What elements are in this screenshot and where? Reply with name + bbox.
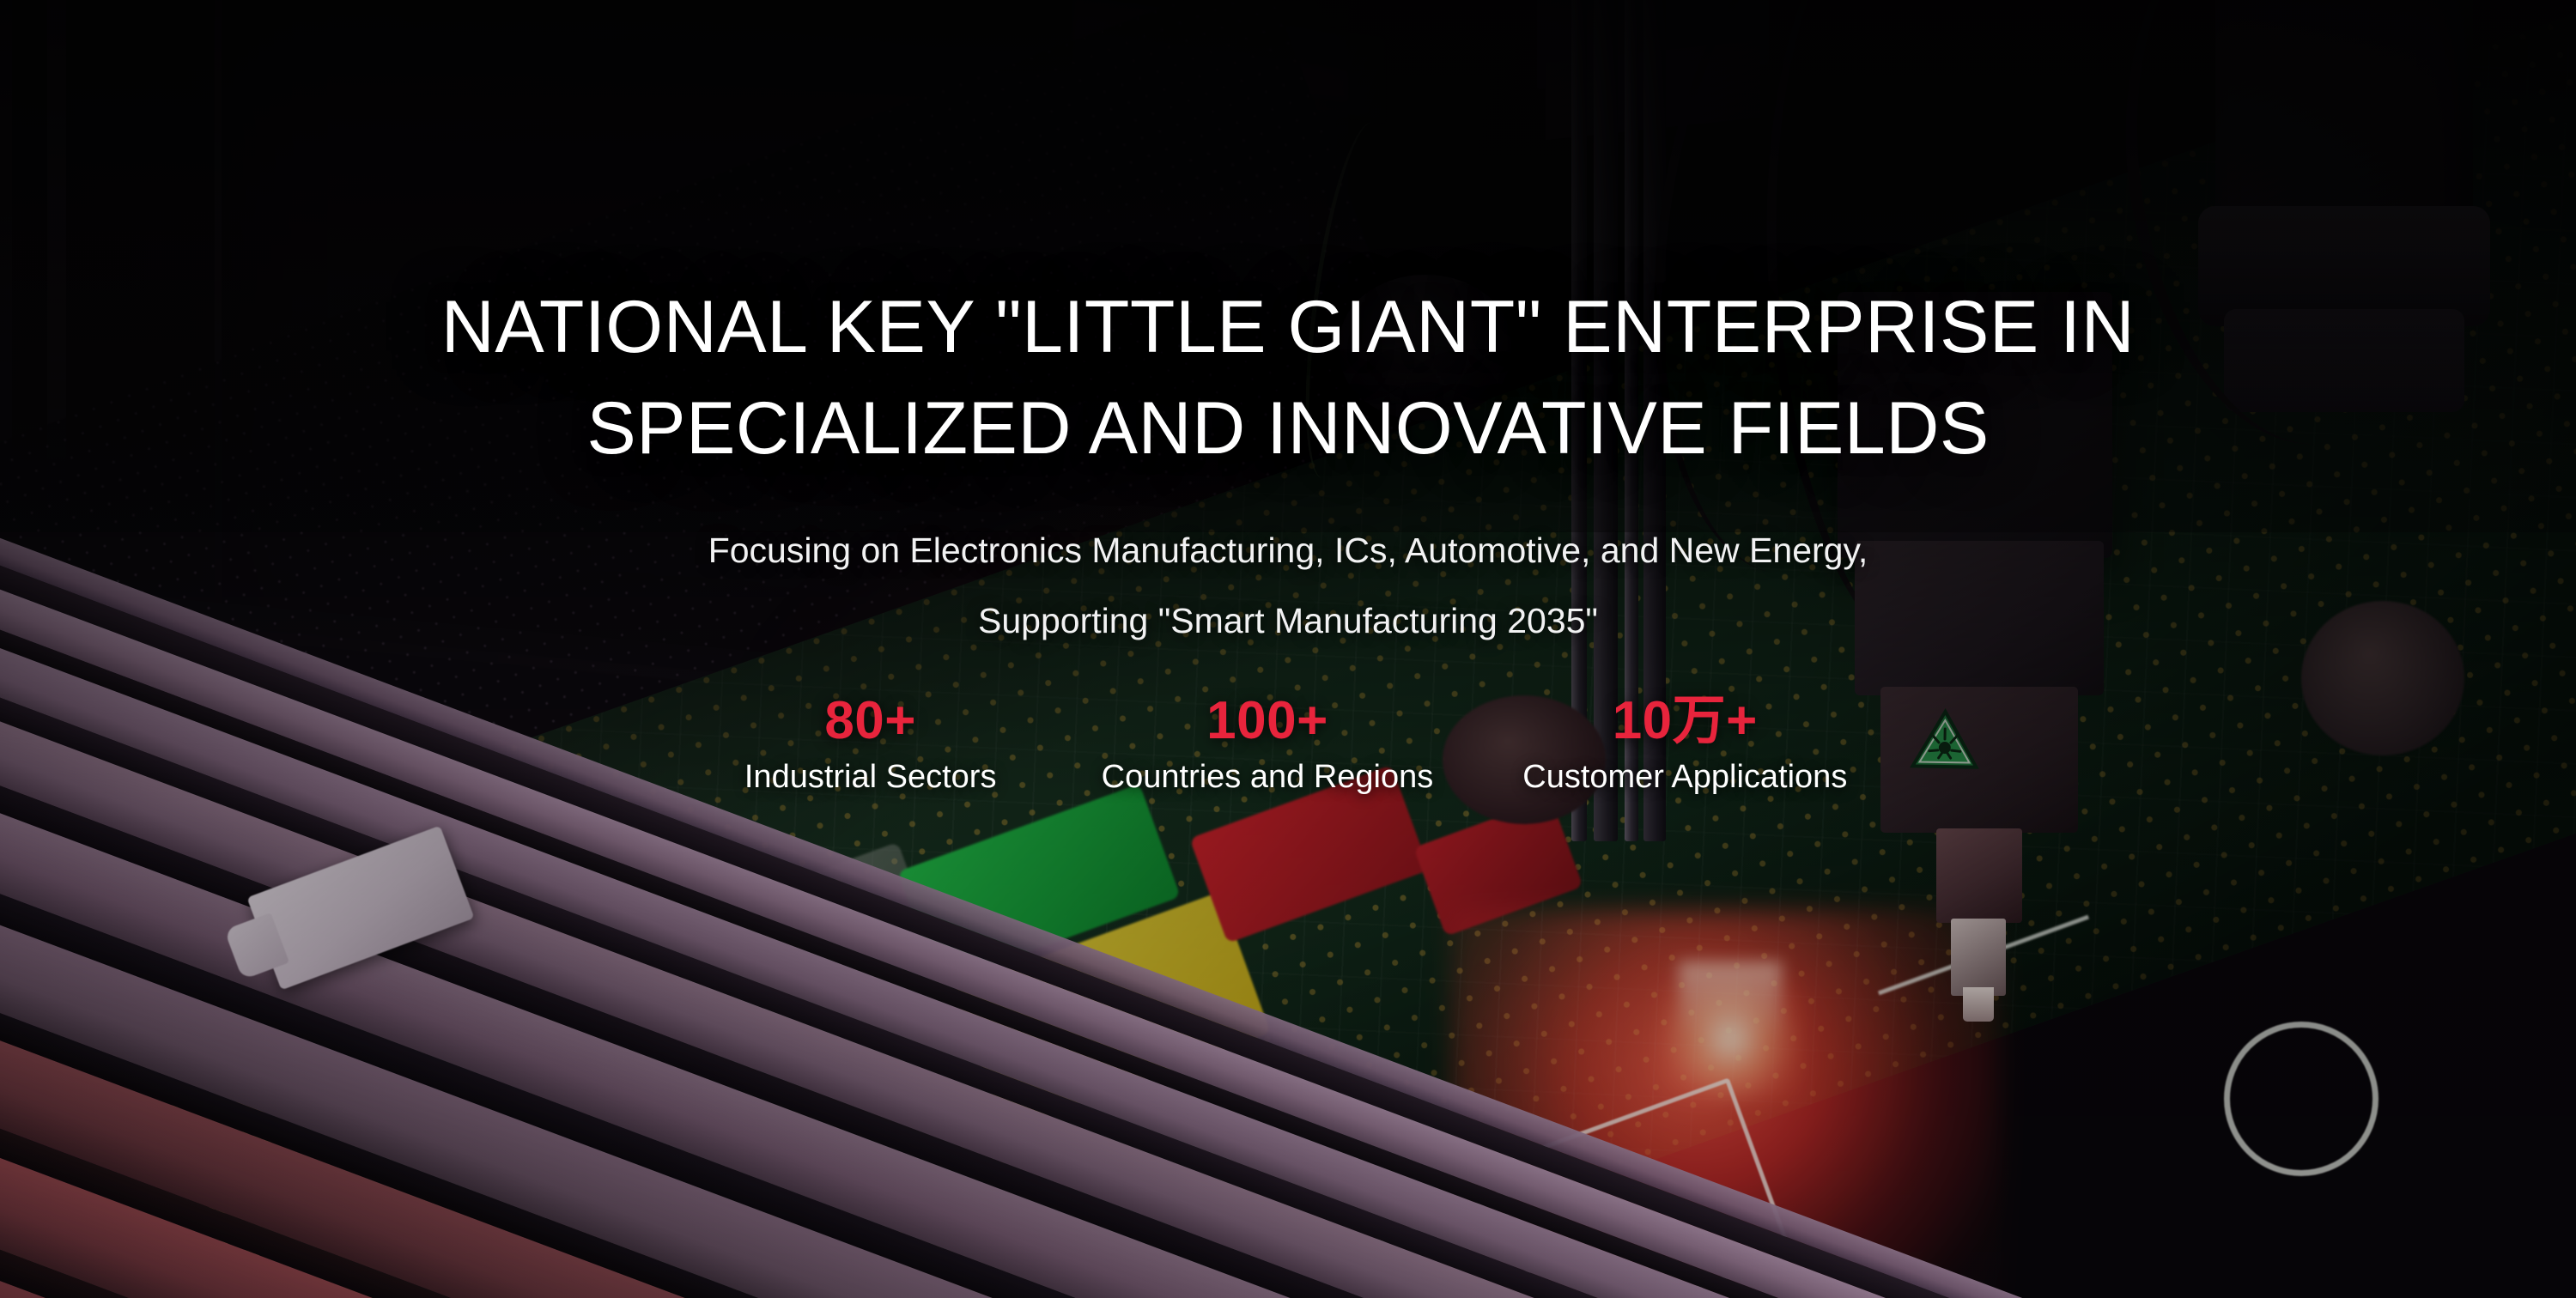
subtitle-line-2: Supporting "Smart Manufacturing 2035" — [343, 585, 2233, 656]
page-title: NATIONAL KEY "LITTLE GIANT" ENTERPRISE I… — [189, 276, 2387, 479]
hero-banner: P43SB 74AC125 — [0, 0, 2576, 1298]
stat-value: 80+ — [729, 690, 1012, 752]
stat-label: Industrial Sectors — [729, 755, 1012, 798]
stat-value: 100+ — [1102, 690, 1434, 752]
stat-value: 10万+ — [1522, 690, 1847, 752]
stat-customer-applications: 10万+ Customer Applications — [1522, 690, 1847, 798]
stat-label: Countries and Regions — [1102, 755, 1434, 798]
stat-label: Customer Applications — [1522, 755, 1847, 798]
hero-content: NATIONAL KEY "LITTLE GIANT" ENTERPRISE I… — [0, 0, 2576, 1298]
stat-countries-and-regions: 100+ Countries and Regions — [1102, 690, 1434, 798]
hero-subtitle: Focusing on Electronics Manufacturing, I… — [343, 515, 2233, 656]
subtitle-line-1: Focusing on Electronics Manufacturing, I… — [343, 515, 2233, 585]
statistics-row: 80+ Industrial Sectors 100+ Countries an… — [729, 690, 1848, 798]
stat-industrial-sectors: 80+ Industrial Sectors — [729, 690, 1012, 798]
